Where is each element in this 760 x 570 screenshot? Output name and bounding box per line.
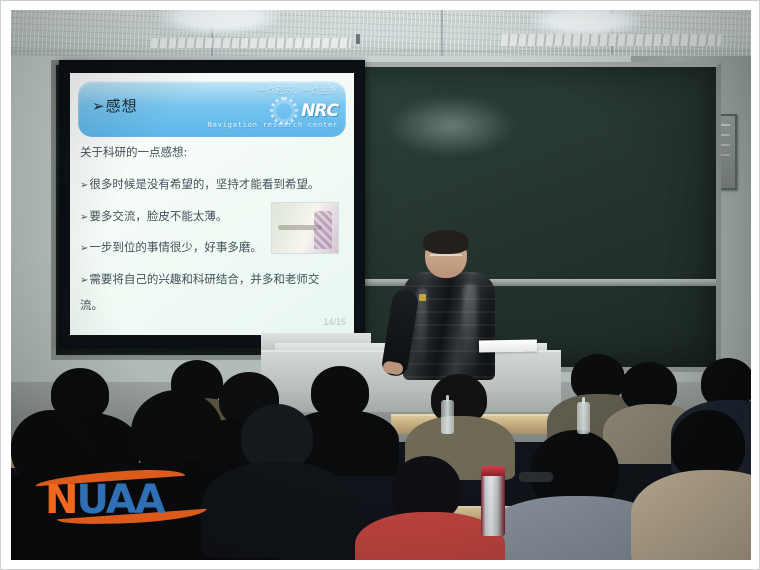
chalkboard-glare	[386, 95, 516, 157]
bullet-text: 一步到位的事情很少，好事多磨。	[89, 240, 262, 254]
slide-bullet-continuation: 流。	[80, 297, 344, 313]
slide-title-marker-icon: ➢	[92, 97, 106, 115]
slide-bullet: ➢需要将自己的兴趣和科研结合，并多和老师交	[80, 272, 344, 288]
slide-header-subtitle: 一点经历、一点感想	[257, 85, 338, 96]
bullet-text: 要多交流，脸皮不能太薄。	[89, 209, 227, 223]
nrc-logo-caption: Navigation research center	[208, 121, 338, 129]
slide-header-bar: 一点经历、一点感想 ➢感想 NRC Navigation research ce…	[78, 81, 346, 137]
slide-intro-line: 关于科研的一点感想:	[80, 145, 344, 159]
bullet-marker-icon: ➢	[80, 243, 88, 254]
slide-bullet: ➢很多时候是没有希望的，坚持才能看到希望。	[80, 177, 344, 193]
photo-frame: 一点经历、一点感想 ➢感想 NRC Navigation research ce…	[0, 0, 760, 570]
lecture-hall-photo: 一点经历、一点感想 ➢感想 NRC Navigation research ce…	[11, 10, 751, 560]
presenter-hair	[423, 230, 469, 254]
slide-page-number: 14/15	[323, 317, 346, 327]
sprinkler-head	[356, 34, 360, 44]
slide-body: 关于科研的一点感想: ➢很多时候是没有希望的，坚持才能看到希望。 ➢要多交流，脸…	[80, 145, 344, 329]
glasses-icon	[519, 472, 553, 482]
slide-title-text: 感想	[106, 97, 138, 115]
podium-papers	[479, 339, 537, 352]
water-bottle	[441, 400, 454, 434]
chalk-rail	[346, 279, 716, 286]
bullet-text: 需要将自己的兴趣和科研结合，并多和老师交	[89, 272, 319, 286]
water-bottle	[577, 402, 590, 434]
bullet-marker-icon: ➢	[80, 212, 88, 223]
photo-figure-shape	[314, 211, 332, 249]
ceiling-light	[159, 10, 279, 34]
jacket-logo	[419, 294, 426, 301]
thermos-flask	[481, 474, 505, 536]
audience-shoulders	[201, 462, 357, 558]
audience-head	[241, 404, 313, 470]
thermos-cap	[481, 466, 505, 476]
slide-embedded-photo	[272, 203, 338, 253]
ceiling-vent	[150, 38, 351, 48]
slide-title: ➢感想	[92, 95, 138, 116]
ceiling-vent	[500, 34, 721, 46]
audience-shoulders	[631, 470, 751, 560]
ceiling-seam	[11, 50, 751, 52]
nrc-logo-text: NRC	[301, 101, 338, 121]
bullet-text: 很多时候是没有希望的，坚持才能看到希望。	[89, 177, 319, 191]
bullet-marker-icon: ➢	[80, 275, 88, 286]
presentation-slide: 一点经历、一点感想 ➢感想 NRC Navigation research ce…	[70, 73, 354, 335]
bullet-marker-icon: ➢	[80, 180, 88, 191]
glasses-icon	[429, 254, 463, 263]
jacket-sheen	[463, 284, 477, 370]
projection-screen: 一点经历、一点感想 ➢感想 NRC Navigation research ce…	[59, 60, 365, 348]
ceiling-light	[531, 10, 641, 36]
